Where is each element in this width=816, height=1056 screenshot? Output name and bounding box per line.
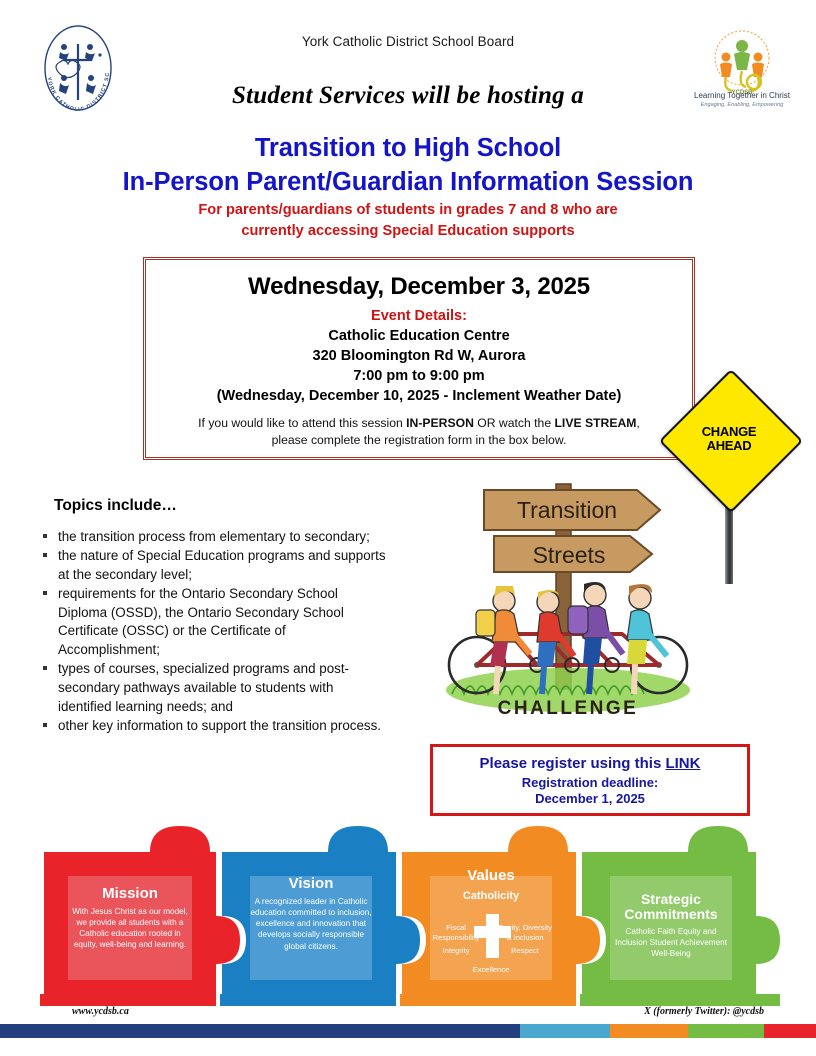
sign-line-2: AHEAD [707,439,752,453]
strip-cyan [520,1024,610,1038]
event-inclement-date: (Wednesday, December 10, 2025 - Inclemen… [146,388,692,404]
footer-bar-red [40,994,216,1006]
registration-box: Please register using this LINK Registra… [430,744,750,816]
registration-deadline-date: December 1, 2025 [535,791,645,806]
puzzle-piece-vision [222,826,420,1000]
list-item: types of courses, specialized programs a… [30,660,390,717]
footer-website[interactable]: www.ycdsb.ca [72,1006,129,1017]
title-line-2: In-Person Parent/Guardian Information Se… [0,166,816,200]
footer-color-bar [40,994,780,1006]
bottom-color-strip [0,1024,816,1038]
note-live-stream: LIVE STREAM [554,416,636,430]
sign-line-1: CHANGE [702,425,757,439]
title-line-1: Transition to High School [0,132,816,166]
sign-bottom-label: Streets [533,542,606,568]
strip-navy [0,1024,520,1038]
register-prefix: Please register using this [480,755,666,772]
register-line-1: Please register using this LINK [480,755,701,772]
registration-link[interactable]: LINK [665,755,700,772]
strip-red [764,1024,816,1038]
transition-streets-illustration: Transition Streets [432,462,704,724]
flyer-page: YORK CATHOLIC DISTRICT SCHOOL BOARD York… [0,0,816,1056]
page-title: Transition to High School In-Person Pare… [0,132,816,199]
list-item: the transition process from elementary t… [30,528,390,547]
footer-bar-green [580,994,780,1006]
sign-top-label: Transition [517,497,617,523]
event-date: Wednesday, December 3, 2025 [146,273,692,301]
subtitle-line-2: currently accessing Special Education su… [0,221,816,242]
event-address: 320 Bloomington Rd W, Aurora [146,348,692,364]
event-time: 7:00 pm to 9:00 pm [146,368,692,384]
list-item: requirements for the Ontario Secondary S… [30,585,390,661]
topics-heading: Topics include… [54,497,177,515]
strip-green [688,1024,764,1038]
footer-twitter[interactable]: X (formerly Twitter): @ycdsb [644,1006,764,1017]
event-details-label: Event Details: [146,308,692,324]
note-pre: If you would like to attend this session [198,416,406,430]
registration-deadline-label: Registration deadline: [522,775,659,790]
strategic-plan-puzzle: Mission With Jesus Christ as our model, … [40,824,780,1004]
hosting-line: Student Services will be hosting a [0,82,816,110]
subtitle-line-1: For parents/guardians of students in gra… [0,200,816,221]
event-details-box: Wednesday, December 3, 2025 Event Detail… [143,257,695,460]
note-line-2: please complete the registration form in… [160,432,678,449]
event-note: If you would like to attend this session… [146,415,692,450]
puzzle-piece-mission [44,826,240,1000]
puzzle-piece-strategic [582,826,780,1000]
note-post: , [636,416,639,430]
list-item: the nature of Special Education programs… [30,547,390,585]
footer-bar-blue [220,994,396,1006]
note-in-person: IN-PERSON [406,416,474,430]
topics-list: the transition process from elementary t… [30,528,390,736]
footer-bar-orange [400,994,576,1006]
list-item: other key information to support the tra… [30,717,390,736]
page-subtitle: For parents/guardians of students in gra… [0,200,816,242]
illustration-caption: CHALLENGE [498,698,639,719]
puzzle-piece-values [402,826,600,1000]
event-venue: Catholic Education Centre [146,328,692,344]
note-mid: OR watch the [474,416,555,430]
strip-orange [610,1024,688,1038]
